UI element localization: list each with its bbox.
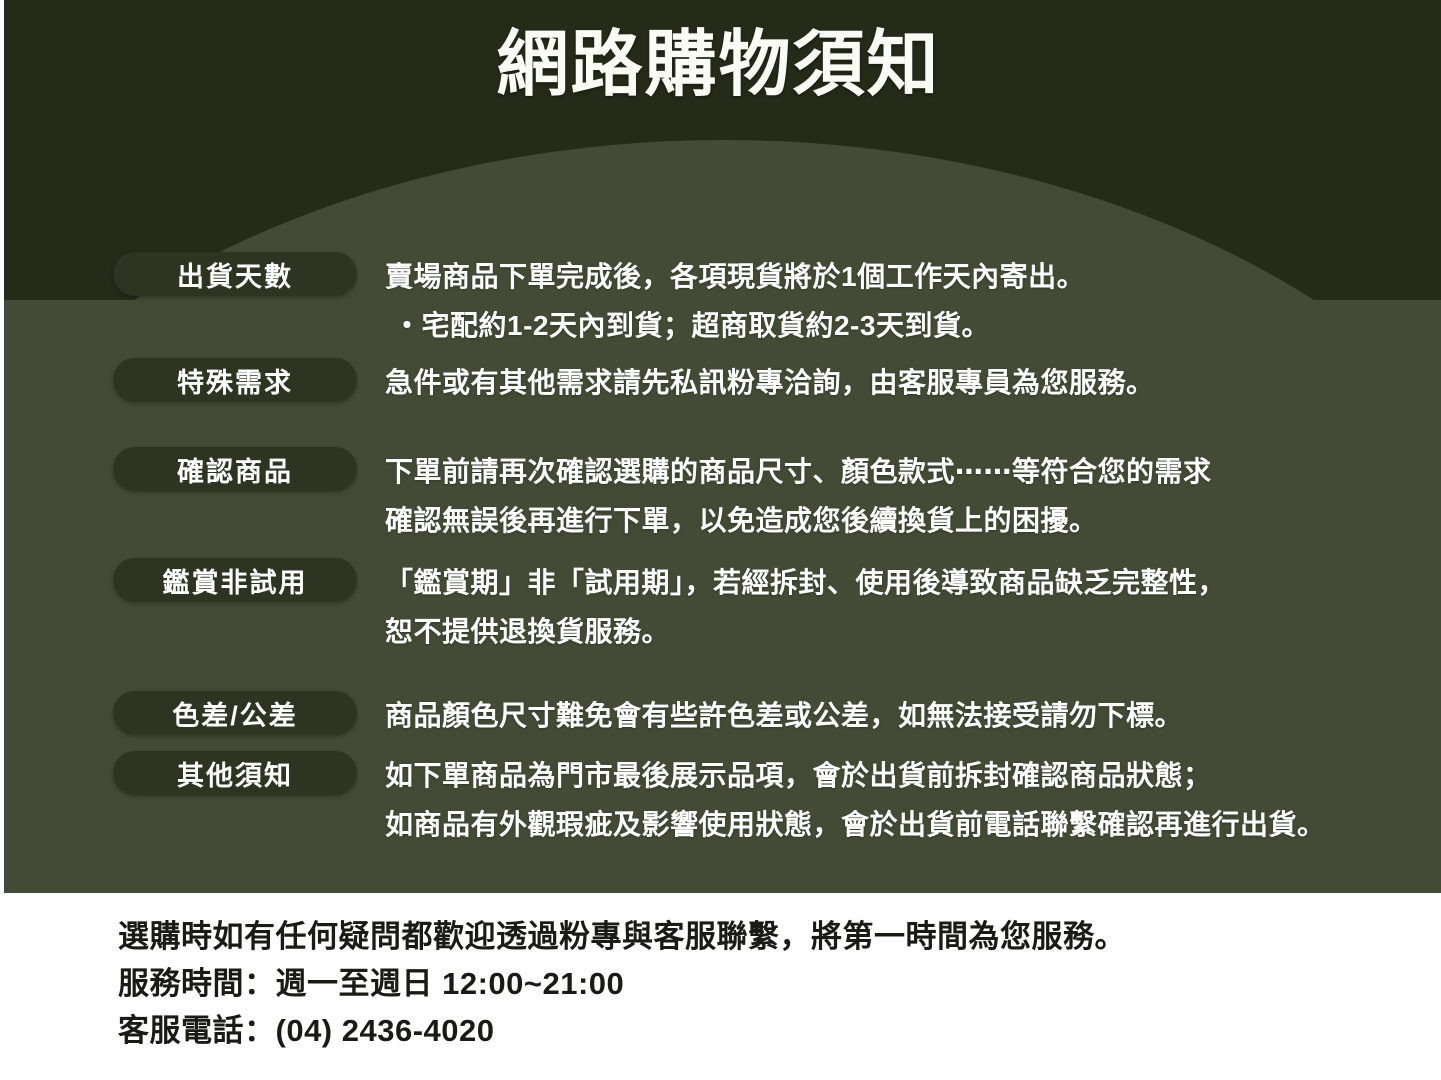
- notice-body: 急件或有其他需求請先私訊粉專洽詢，由客服專員為您服務。: [385, 358, 1155, 407]
- notice-body-line: 賣場商品下單完成後，各項現貨將於1個工作天內寄出。: [385, 252, 1085, 301]
- notice-row: 色差/公差 商品顏色尺寸難免會有些許色差或公差，如無法接受請勿下標。: [113, 691, 1183, 740]
- notice-row: 特殊需求 急件或有其他需求請先私訊粉專洽詢，由客服專員為您服務。: [113, 358, 1155, 407]
- contact-line-hours: 服務時間：週一至週日 12:00~21:00: [118, 960, 1126, 1007]
- contact-line-intro: 選購時如有任何疑問都歡迎透過粉專與客服聯繫，將第一時間為您服務。: [118, 913, 1126, 960]
- notice-row: 確認商品 下單前請再次確認選購的商品尺寸、顏色款式⋯⋯等符合您的需求 確認無誤後…: [113, 447, 1212, 545]
- notice-body-line: 如下單商品為門市最後展示品項，會於出貨前拆封確認商品狀態；: [385, 751, 1326, 800]
- notice-body: 商品顏色尺寸難免會有些許色差或公差，如無法接受請勿下標。: [385, 691, 1183, 740]
- notice-row: 其他須知 如下單商品為門市最後展示品項，會於出貨前拆封確認商品狀態； 如商品有外…: [113, 751, 1326, 849]
- notice-label-pill: 鑑賞非試用: [113, 558, 357, 602]
- notice-row: 出貨天數 賣場商品下單完成後，各項現貨將於1個工作天內寄出。 ・宅配約1-2天內…: [113, 252, 1085, 350]
- notice-label-pill: 確認商品: [113, 447, 357, 491]
- notice-label-pill: 出貨天數: [113, 252, 357, 296]
- notice-rows: 出貨天數 賣場商品下單完成後，各項現貨將於1個工作天內寄出。 ・宅配約1-2天內…: [0, 0, 1437, 893]
- shopping-notice-graphic: 網路購物須知 出貨天數 賣場商品下單完成後，各項現貨將於1個工作天內寄出。 ・宅…: [0, 0, 1441, 1080]
- notice-label-pill: 特殊需求: [113, 358, 357, 402]
- notice-body: 「鑑賞期」非「試用期」，若經拆封、使用後導致商品缺乏完整性， 恕不提供退換貨服務…: [385, 558, 1226, 656]
- notice-body-line: 恕不提供退換貨服務。: [385, 607, 1226, 656]
- notice-body: 如下單商品為門市最後展示品項，會於出貨前拆封確認商品狀態； 如商品有外觀瑕疵及影…: [385, 751, 1326, 849]
- notice-body: 下單前請再次確認選購的商品尺寸、顏色款式⋯⋯等符合您的需求 確認無誤後再進行下單…: [385, 447, 1212, 545]
- notice-body-line: 確認無誤後再進行下單，以免造成您後續換貨上的困擾。: [385, 496, 1212, 545]
- page-title: 網路購物須知: [0, 24, 1437, 107]
- contact-line-phone: 客服電話：(04) 2436-4020: [118, 1007, 1126, 1054]
- contact-footer-text: 選購時如有任何疑問都歡迎透過粉專與客服聯繫，將第一時間為您服務。 服務時間：週一…: [118, 913, 1126, 1054]
- contact-footer: 選購時如有任何疑問都歡迎透過粉專與客服聯繫，將第一時間為您服務。 服務時間：週一…: [0, 893, 1441, 1080]
- notice-body-line: 下單前請再次確認選購的商品尺寸、顏色款式⋯⋯等符合您的需求: [385, 447, 1212, 496]
- notice-body-line: 商品顏色尺寸難免會有些許色差或公差，如無法接受請勿下標。: [385, 691, 1183, 740]
- notice-body-line: 如商品有外觀瑕疵及影響使用狀態，會於出貨前電話聯繫確認再進行出貨。: [385, 800, 1326, 849]
- notice-body-line: ・宅配約1-2天內到貨；超商取貨約2-3天到貨。: [385, 301, 1085, 350]
- notice-body-line: 「鑑賞期」非「試用期」，若經拆封、使用後導致商品缺乏完整性，: [385, 558, 1226, 607]
- notice-label-pill: 其他須知: [113, 751, 357, 795]
- notice-label-pill: 色差/公差: [113, 691, 357, 735]
- notice-body-line: 急件或有其他需求請先私訊粉專洽詢，由客服專員為您服務。: [385, 358, 1155, 407]
- notice-row: 鑑賞非試用 「鑑賞期」非「試用期」，若經拆封、使用後導致商品缺乏完整性， 恕不提…: [113, 558, 1226, 656]
- notice-body: 賣場商品下單完成後，各項現貨將於1個工作天內寄出。 ・宅配約1-2天內到貨；超商…: [385, 252, 1085, 350]
